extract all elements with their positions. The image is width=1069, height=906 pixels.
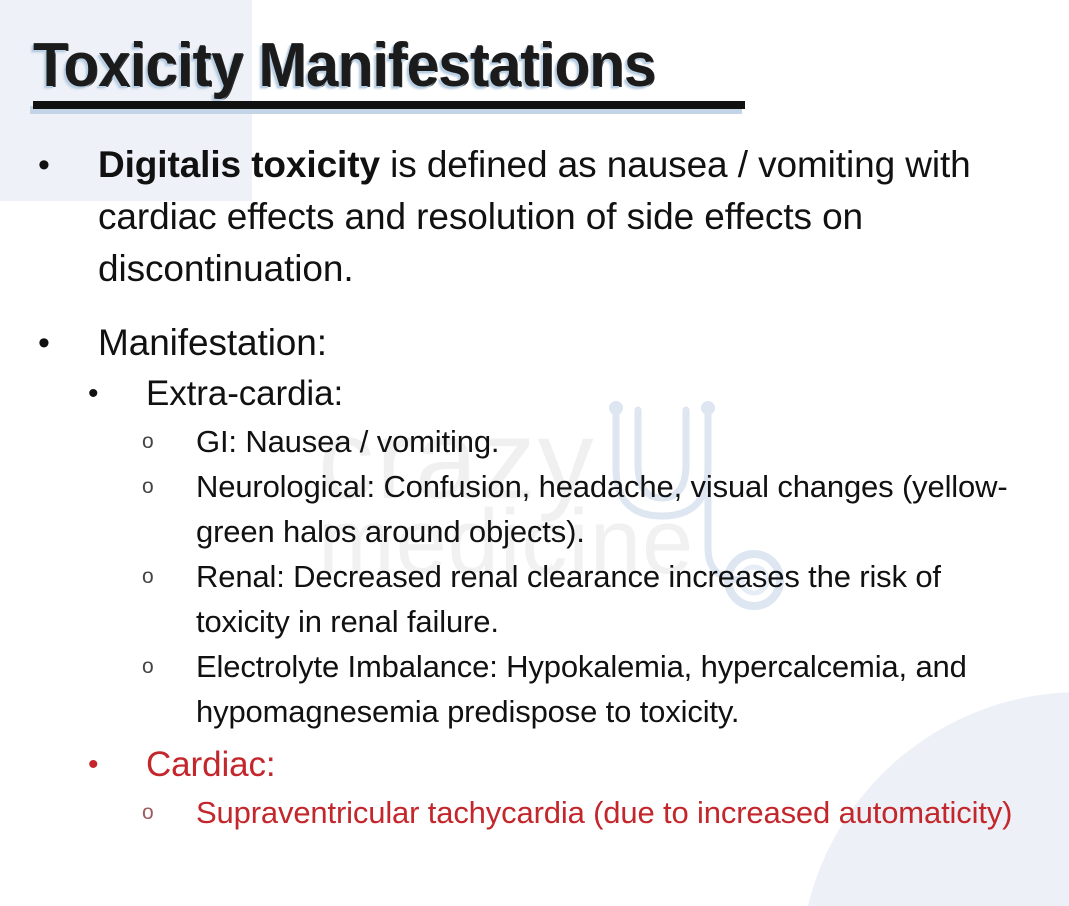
title-underline-rule [33,101,745,109]
list-item: o Renal: Decreased renal clearance incre… [0,554,1069,644]
bullet-marker-dot-icon: • [38,139,50,191]
bullet-marker-circle-icon: o [142,790,154,835]
definition-lead-term: Digitalis toxicity [98,144,380,185]
slide-body: • Digitalis toxicity is defined as nause… [0,139,1069,835]
bullet-marker-dot-icon: • [38,317,50,369]
bullet-extra-cardia-heading: • Extra-cardia: [0,369,1069,419]
bullet-marker-circle-icon: o [142,644,154,689]
list-item-text: Renal: Decreased renal clearance increas… [196,554,1029,644]
spacer [0,295,1069,317]
manifestation-heading-text: Manifestation: [98,317,1039,369]
list-item-text: Neurological: Confusion, headache, visua… [196,464,1029,554]
list-item: o Neurological: Confusion, headache, vis… [0,464,1069,554]
list-item-text: Electrolyte Imbalance: Hypokalemia, hype… [196,644,1029,734]
extra-cardia-heading-text: Extra-cardia: [146,369,1039,419]
bullet-marker-dot-icon: • [88,740,99,790]
bullet-definition: • Digitalis toxicity is defined as nause… [0,139,1069,295]
bullet-definition-text: Digitalis toxicity is defined as nausea … [98,139,1039,295]
bullet-manifestation-heading: • Manifestation: [0,317,1069,369]
list-item-text: Supraventricular tachycardia (due to inc… [196,790,1029,835]
bullet-marker-circle-icon: o [142,464,154,509]
list-item: o Supraventricular tachycardia (due to i… [0,790,1069,835]
slide-title-block: Toxicity Manifestations [33,33,933,98]
bullet-marker-dot-icon: • [88,369,99,419]
bullet-cardiac-heading: • Cardiac: [0,740,1069,790]
bullet-marker-circle-icon: o [142,419,154,464]
page-title: Toxicity Manifestations [33,33,870,98]
cardiac-heading-text: Cardiac: [146,740,1039,790]
slide-canvas: crazy medicine Toxicity Manifestations •… [0,0,1069,906]
list-item: o GI: Nausea / vomiting. [0,419,1069,464]
bullet-marker-circle-icon: o [142,554,154,599]
list-item-text: GI: Nausea / vomiting. [196,419,1029,464]
list-item: o Electrolyte Imbalance: Hypokalemia, hy… [0,644,1069,734]
